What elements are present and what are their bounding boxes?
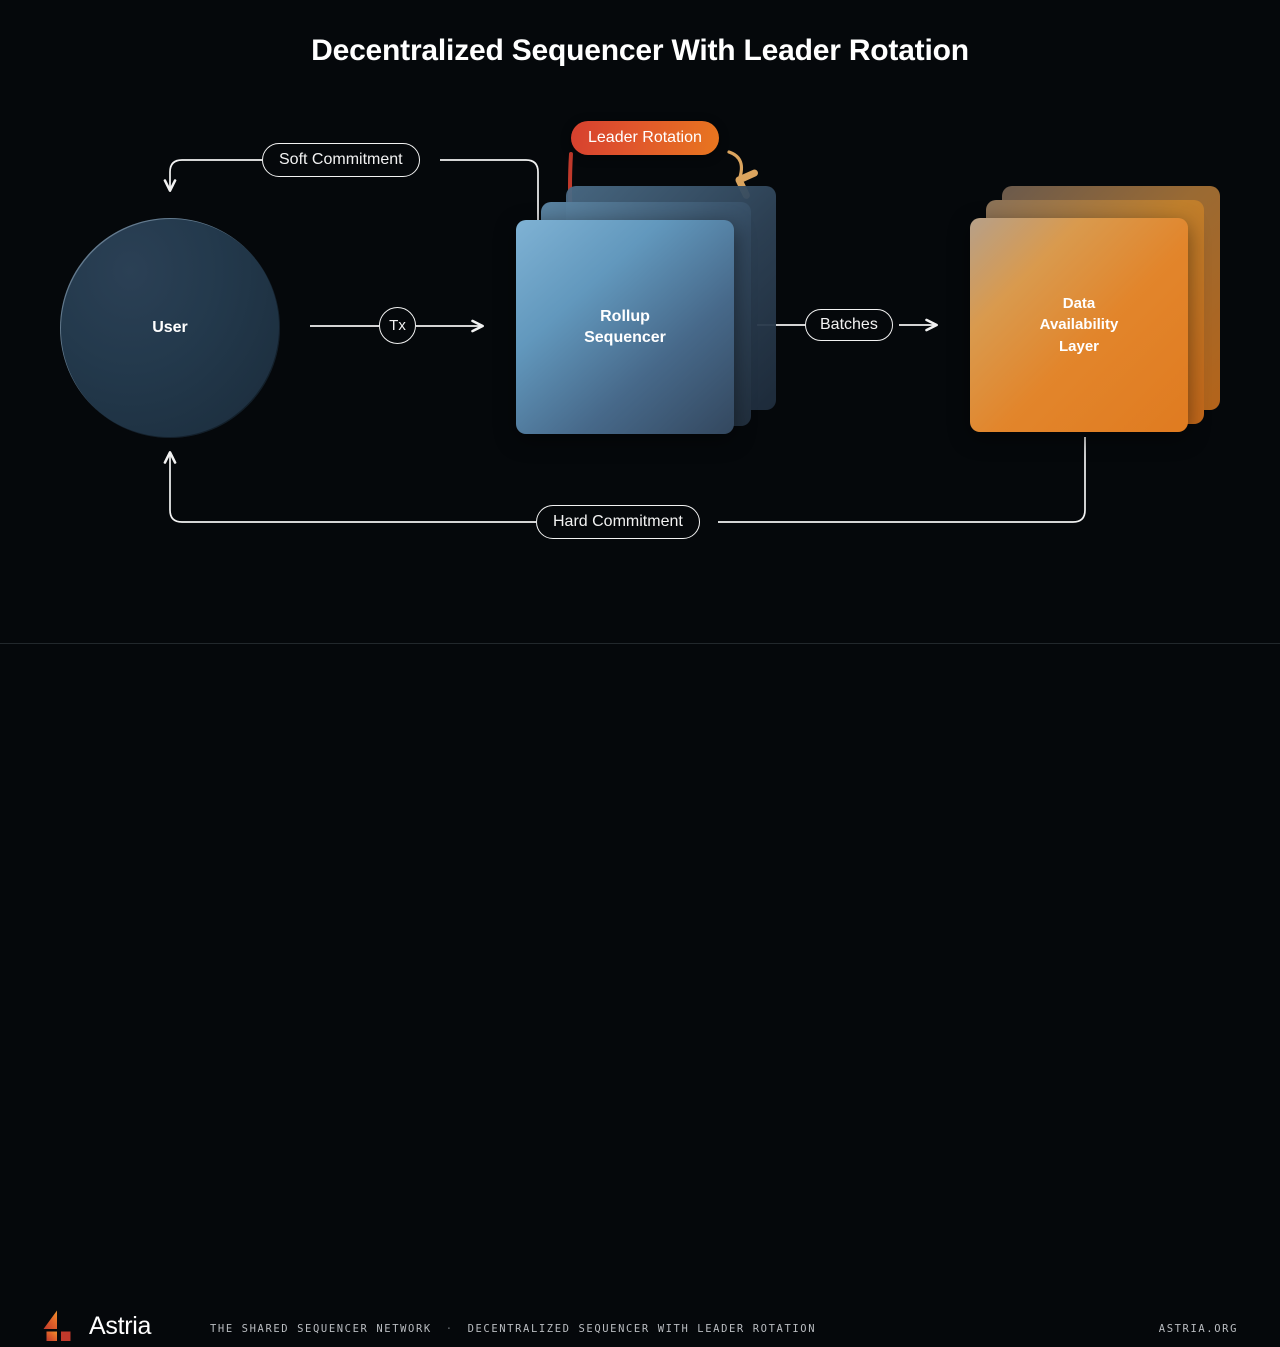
astria-logo-icon [40, 1310, 76, 1342]
node-data-availability-layer-label: Data Availability Layer [1040, 293, 1119, 357]
footer: Astria THE SHARED SEQUENCER NETWORK · DE… [0, 644, 1280, 720]
edge-label-batches[interactable]: Batches [805, 309, 893, 341]
node-rollup-sequencer[interactable]: Rollup Sequencer [516, 186, 776, 436]
da-layer-label-line-2: Availability [1040, 314, 1119, 335]
node-data-availability-layer[interactable]: Data Availability Layer [970, 186, 1230, 436]
node-rollup-sequencer-label: Rollup Sequencer [584, 306, 666, 348]
leader-rotation-arrow-icon [729, 152, 741, 180]
rollup-sequencer-label-line-2: Sequencer [584, 327, 666, 348]
slide-canvas: Decentralized Sequencer With Leader Rota… [0, 0, 1280, 720]
footer-tagline-right: DECENTRALIZED SEQUENCER WITH LEADER ROTA… [468, 1323, 817, 1335]
rollup-sequencer-label-line-1: Rollup [584, 306, 666, 327]
footer-url[interactable]: ASTRIA.ORG [1159, 1323, 1238, 1335]
node-user-label: User [152, 319, 188, 337]
node-user[interactable]: User [60, 218, 280, 438]
brand[interactable]: Astria [40, 1310, 151, 1342]
da-layer-card-front: Data Availability Layer [970, 218, 1188, 432]
da-layer-label-line-3: Layer [1040, 336, 1119, 357]
footer-tagline-left: THE SHARED SEQUENCER NETWORK [210, 1323, 432, 1335]
da-layer-label-line-1: Data [1040, 293, 1119, 314]
footer-tagline-separator: · [446, 1323, 454, 1335]
edge-label-tx[interactable]: Tx [379, 307, 416, 344]
edge-label-hard-commitment[interactable]: Hard Commitment [536, 505, 700, 539]
edge-label-soft-commitment[interactable]: Soft Commitment [262, 143, 420, 177]
rollup-sequencer-card-front: Rollup Sequencer [516, 220, 734, 434]
footer-tagline: THE SHARED SEQUENCER NETWORK · DECENTRAL… [210, 1323, 816, 1335]
brand-name: Astria [89, 1312, 151, 1341]
leader-rotation-badge[interactable]: Leader Rotation [571, 121, 719, 155]
